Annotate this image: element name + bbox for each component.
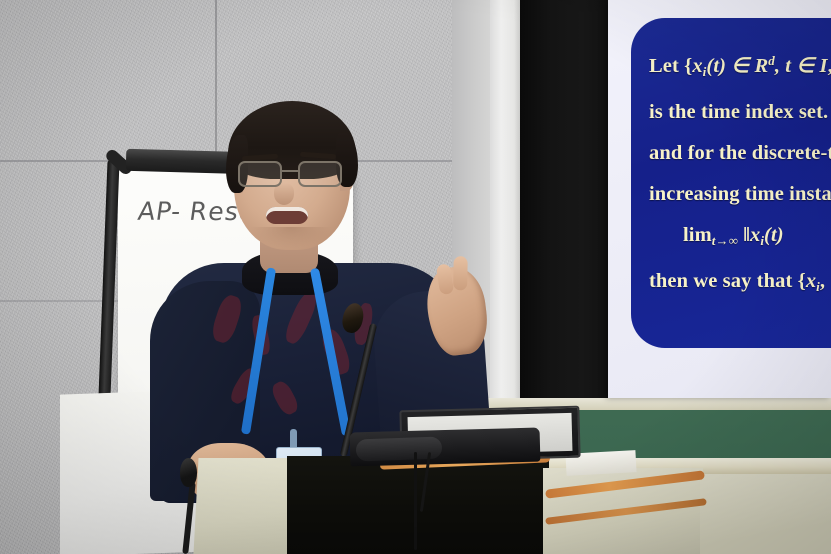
- slide-line-6: then we say that {xi,: [649, 261, 831, 307]
- slide-line-1: Let {xi(t) ∈ Rd, t ∈ I,: [649, 40, 831, 92]
- lecture-photograph: Let {xi(t) ∈ Rd, t ∈ I, is the time inde…: [0, 0, 831, 554]
- slide-line-3: and for the discrete-t: [649, 133, 831, 174]
- speaker-mouth-open: [266, 207, 308, 224]
- podium-dark-front-face: [287, 456, 549, 554]
- eyeglass-bridge: [282, 170, 300, 172]
- slide-line-5-equation: limt→∞ ‖xi(t): [649, 215, 831, 261]
- speaker-nose: [274, 183, 294, 205]
- eyeglass-lens-left: [238, 161, 282, 187]
- eyeglass-lens-right: [298, 161, 342, 187]
- speaker-eyeglasses: [236, 161, 348, 189]
- dark-recess-column: [520, 0, 610, 462]
- projection-screen: Let {xi(t) ∈ Rd, t ∈ I, is the time inde…: [608, 0, 831, 398]
- speaker-chin-shadow: [250, 227, 332, 249]
- slide-blue-panel: Let {xi(t) ∈ Rd, t ∈ I, is the time inde…: [631, 18, 831, 348]
- cable-primary: [414, 452, 417, 550]
- slide-text-block: Let {xi(t) ∈ Rd, t ∈ I, is the time inde…: [649, 40, 831, 307]
- podium-panel-far-right: [700, 474, 831, 554]
- slide-line-4: increasing time instan: [649, 174, 831, 215]
- microphone-left-head: [180, 458, 197, 487]
- slide-line-2: is the time index set.: [649, 92, 831, 133]
